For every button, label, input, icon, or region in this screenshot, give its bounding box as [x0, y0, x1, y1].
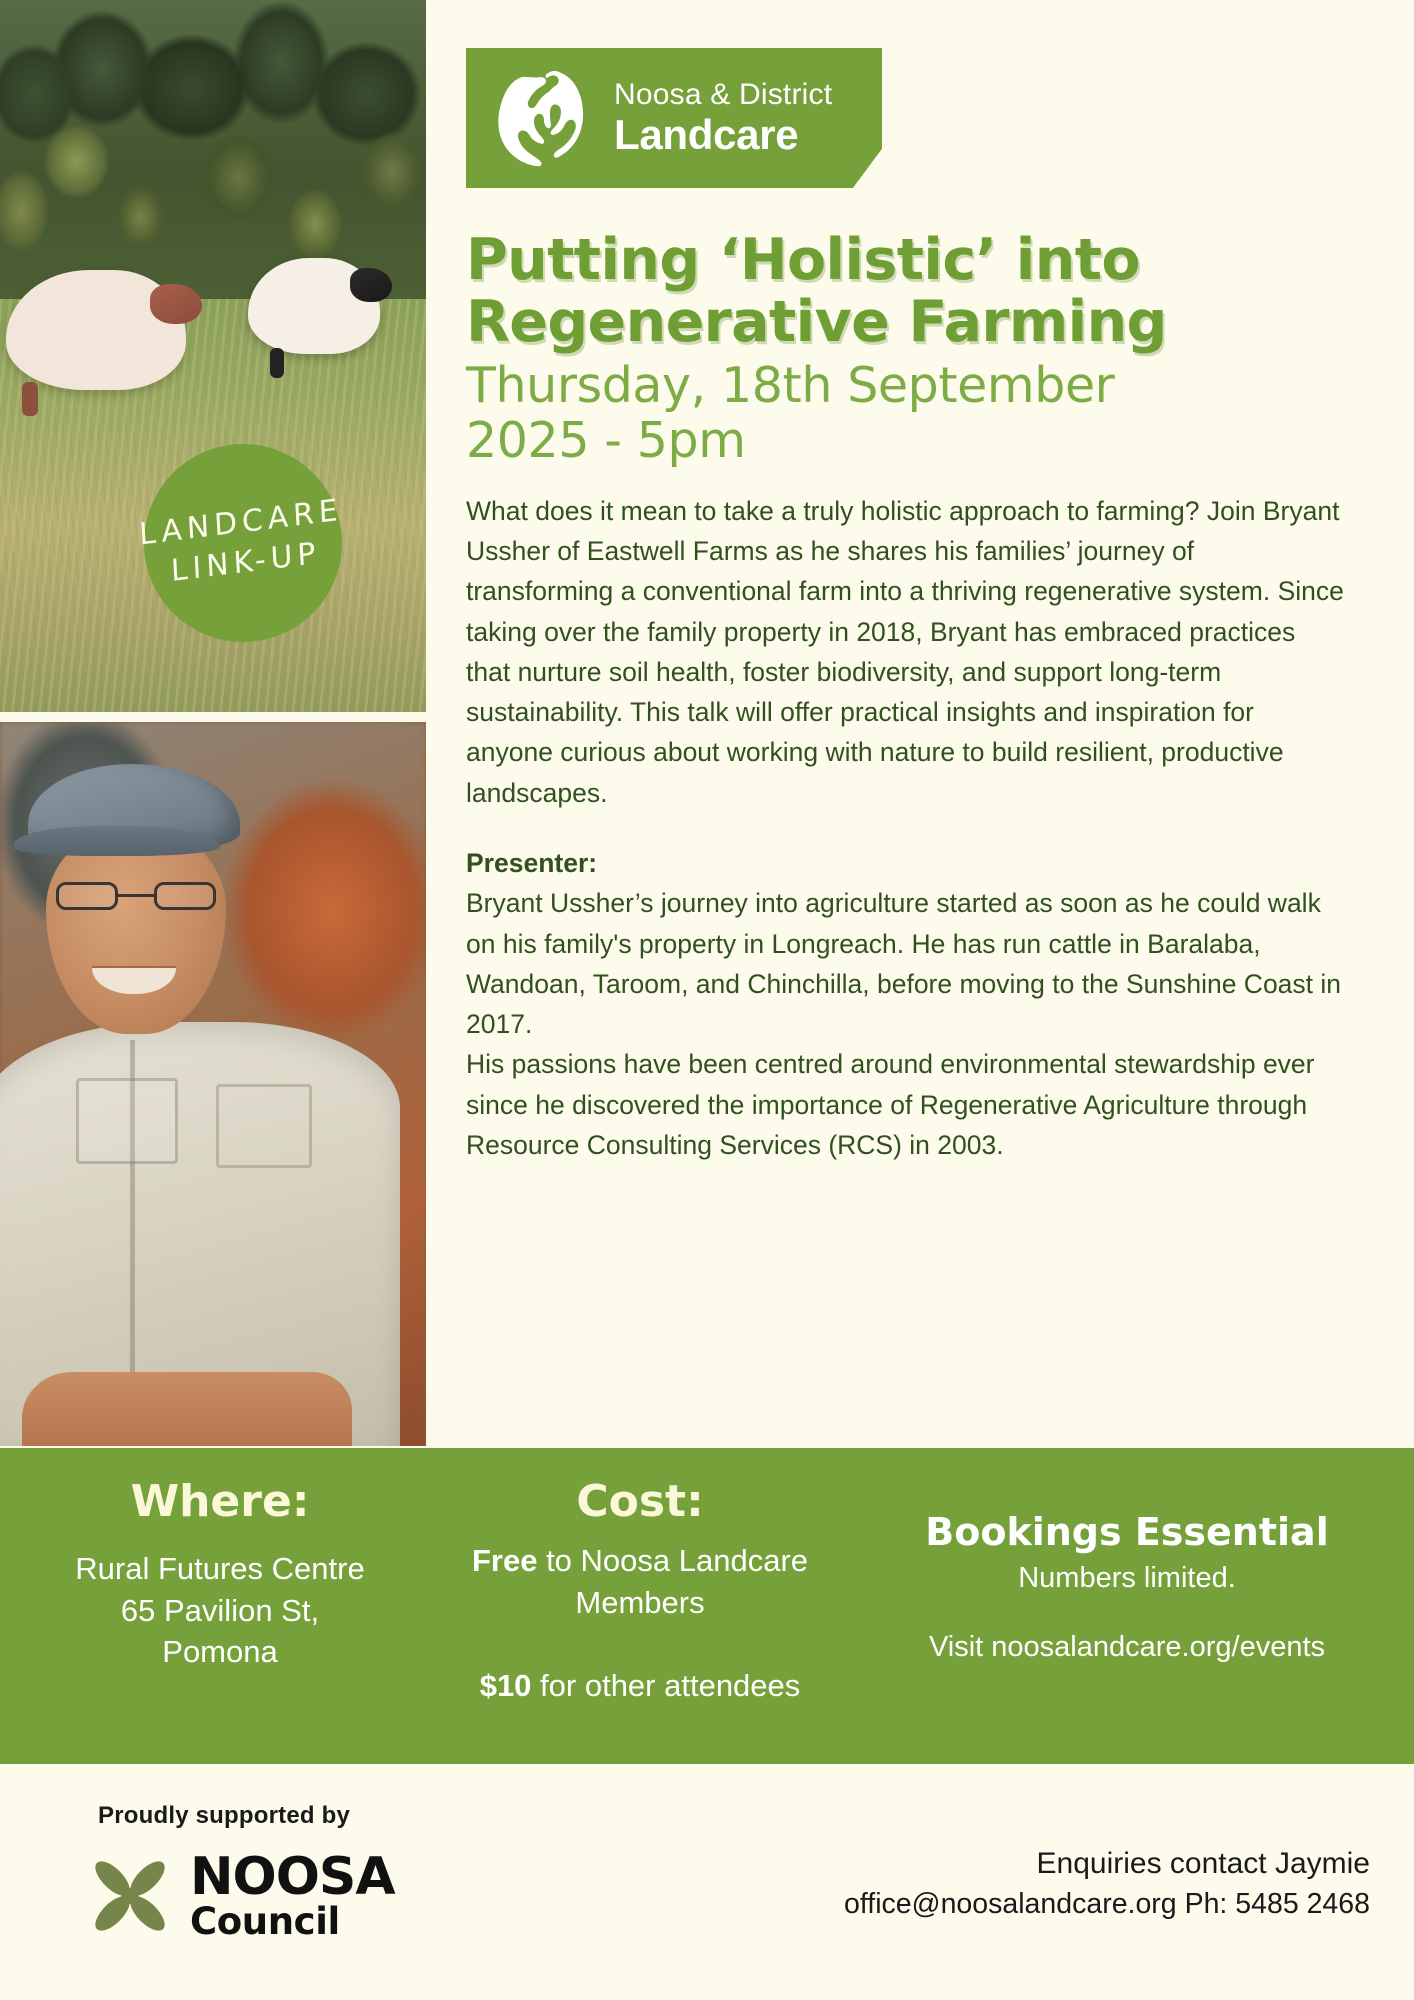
event-description: What does it mean to take a truly holist…: [466, 491, 1346, 813]
hands-around-australia-icon: [484, 62, 602, 174]
noosa-council-wordmark: NOOSA Council: [190, 1853, 395, 1940]
cost-free-rest: to Noosa Landcare: [537, 1543, 808, 1578]
enquiries-line-1: Enquiries contact Jaymie: [844, 1844, 1370, 1885]
cost-column: Cost: Free to Noosa Landcare Members $10…: [440, 1478, 840, 1706]
landcare-logo-text: Noosa & District Landcare: [614, 79, 832, 157]
bookings-heading: Bookings Essential: [856, 1512, 1398, 1554]
portrait-cap-brim: [14, 826, 220, 856]
event-info-band: Where: Rural Futures Centre 65 Pavilion …: [0, 1448, 1414, 1764]
noosa-council-logo: NOOSA Council: [84, 1850, 395, 1942]
farmer-portrait-photo: [0, 722, 426, 1446]
enquiries-line-2[interactable]: office@noosalandcare.org Ph: 5485 2468: [844, 1885, 1370, 1923]
bookings-subtext: Numbers limited.: [856, 1562, 1398, 1595]
event-title-line-1: Putting ‘Holistic’ into: [466, 230, 1354, 292]
cost-paid-rest: for other attendees: [531, 1668, 800, 1703]
supported-by-label: Proudly supported by: [98, 1802, 350, 1830]
where-line-2: 65 Pavilion St,: [16, 1590, 424, 1631]
event-title-line-2: Regenerative Farming: [466, 292, 1354, 354]
logo-line-2: Landcare: [614, 113, 832, 157]
cost-free-line: Free to Noosa Landcare Members: [456, 1540, 824, 1622]
cost-free-label: Free: [472, 1543, 537, 1578]
presenter-bio-paragraph-1: Bryant Ussher’s journey into agriculture…: [466, 883, 1346, 1044]
presenter-bio-paragraph-2: His passions have been centred around en…: [466, 1044, 1346, 1165]
council-line-2: Council: [190, 1904, 395, 1939]
flyer-footer: Proudly supported by NOOSA Council Enqui…: [0, 1764, 1414, 2000]
event-flyer: LANDCARE LINK-UP Noosa & District Landca…: [0, 0, 1414, 2000]
enquiries-block: Enquiries contact Jaymie office@noosalan…: [844, 1844, 1370, 1923]
council-line-1: NOOSA: [190, 1853, 395, 1902]
where-line-3: Pomona: [16, 1631, 424, 1672]
cost-paid-amount: $10: [480, 1668, 532, 1703]
where-column: Where: Rural Futures Centre 65 Pavilion …: [0, 1478, 440, 1672]
cost-heading: Cost:: [456, 1478, 824, 1526]
portrait-shirt-pocket-left: [76, 1078, 178, 1164]
portrait-glasses: [56, 882, 216, 912]
event-description-block: What does it mean to take a truly holist…: [466, 491, 1346, 1165]
event-date: Thursday, 18th September 2025 - 5pm: [466, 359, 1354, 469]
where-heading: Where:: [16, 1478, 424, 1526]
portrait-shirt-pocket-right: [216, 1084, 312, 1168]
event-date-line-2: 2025 - 5pm: [466, 414, 1354, 469]
where-line-1: Rural Futures Centre: [16, 1548, 424, 1589]
where-details: Rural Futures Centre 65 Pavilion St, Pom…: [16, 1548, 424, 1672]
cow-brown-white: [6, 270, 186, 390]
logo-line-1: Noosa & District: [614, 79, 832, 111]
cost-free-line-2: Members: [456, 1582, 824, 1623]
four-petal-flower-icon: [84, 1850, 176, 1942]
portrait-forearm: [22, 1372, 352, 1446]
event-date-line-1: Thursday, 18th September: [466, 359, 1354, 414]
bookings-column: Bookings Essential Numbers limited. Visi…: [840, 1478, 1414, 1664]
cow-black-white: [248, 258, 380, 354]
bookings-visit-url[interactable]: Visit noosalandcare.org/events: [856, 1631, 1398, 1664]
event-title: Putting ‘Holistic’ into Regenerative Far…: [466, 230, 1354, 353]
presenter-label: Presenter:: [466, 843, 1346, 883]
landcare-logo-banner: Noosa & District Landcare: [466, 48, 882, 188]
content-column: Noosa & District Landcare Putting ‘Holis…: [426, 0, 1414, 1165]
photo-column: LANDCARE LINK-UP: [0, 0, 426, 1446]
cost-paid-line: $10 for other attendees: [456, 1665, 824, 1706]
